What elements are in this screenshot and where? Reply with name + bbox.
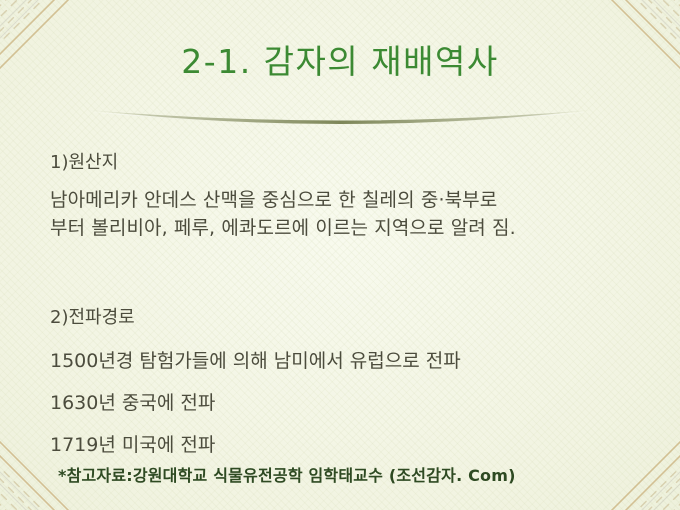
title-block: 2-1. 감자의 재배역사	[0, 44, 680, 80]
spread-route-item-1: 1500년경 탐험가들에 의해 남미에서 유럽으로 전파	[50, 346, 461, 373]
origin-paragraph-line-2: 부터 볼리비아, 페루, 에콰도르에 이르는 지역으로 알려 짐.	[50, 214, 650, 242]
spread-route-item-2: 1630년 중국에 전파	[50, 388, 215, 415]
slide-canvas: 2-1. 감자의 재배역사	[0, 0, 680, 510]
spread-route-item-3: 1719년 미국에 전파	[50, 430, 215, 457]
slide-body: 1)원산지 남아메리카 안데스 산맥을 중심으로 한 칠레의 중·북부로 부터 …	[0, 148, 680, 448]
source-footnote: *참고자료:강원대학교 식물유전공학 임학태교수 (조선감자. Com)	[58, 462, 516, 486]
origin-paragraph-line-1: 남아메리카 안데스 산맥을 중심으로 한 칠레의 중·북부로	[50, 186, 650, 214]
section-heading-origin: 1)원산지	[50, 148, 118, 174]
title-swoosh-divider	[88, 104, 592, 138]
page-title: 2-1. 감자의 재배역사	[181, 44, 498, 80]
section-heading-spread-route: 2)전파경로	[50, 303, 135, 329]
origin-paragraph: 남아메리카 안데스 산맥을 중심으로 한 칠레의 중·북부로 부터 볼리비아, …	[50, 186, 650, 242]
